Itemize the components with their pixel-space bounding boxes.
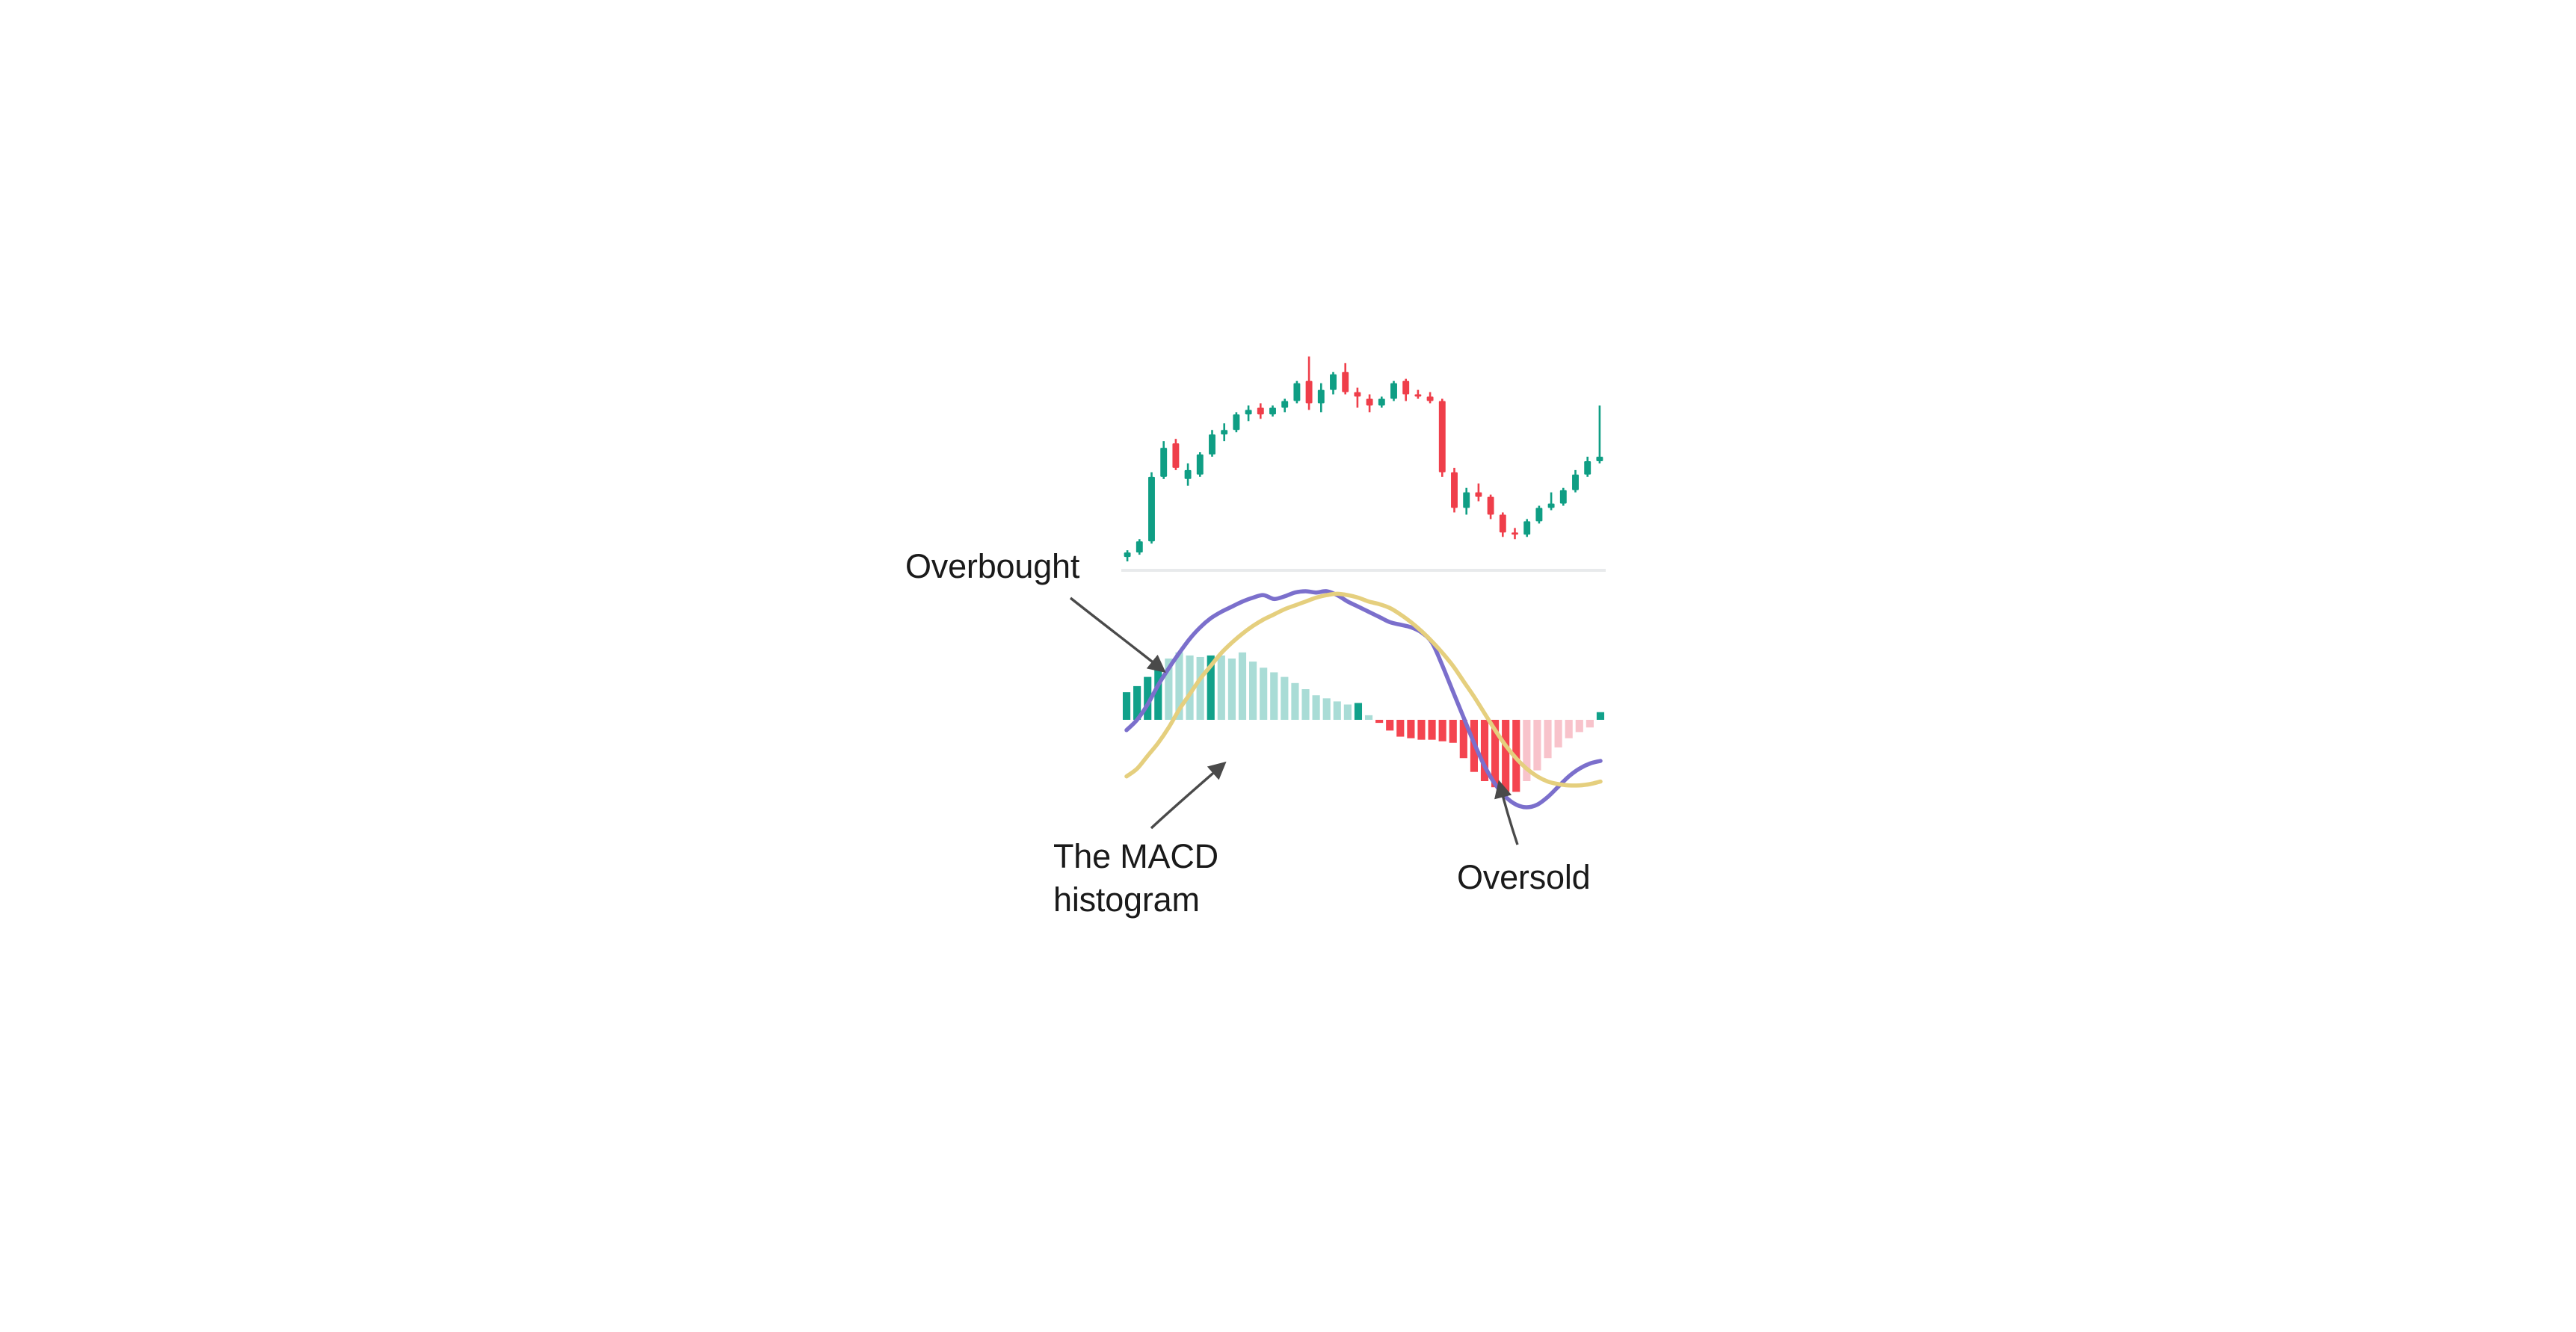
histogram-bar-positive xyxy=(1344,705,1352,721)
oversold-arrow-icon xyxy=(1500,783,1517,845)
candle-body xyxy=(1306,381,1313,404)
histogram-bar-negative xyxy=(1565,720,1573,739)
candle-body xyxy=(1330,374,1337,390)
candle-body xyxy=(1463,493,1470,508)
histogram-bar-positive xyxy=(1281,677,1288,720)
candle-body xyxy=(1584,461,1591,475)
histogram-bar-negative xyxy=(1555,720,1562,747)
histogram-bar-positive xyxy=(1123,692,1130,720)
histogram-bar-positive xyxy=(1355,703,1362,720)
candle-body xyxy=(1342,372,1349,392)
histogram-bar-positive xyxy=(1313,695,1320,720)
candle-body xyxy=(1269,407,1276,414)
candle-body xyxy=(1451,472,1458,508)
histogram-bar-negative xyxy=(1544,720,1551,758)
histogram-bar-negative xyxy=(1407,720,1414,739)
candle-body xyxy=(1354,392,1361,397)
candle-body xyxy=(1160,448,1167,477)
histogram-bar-negative xyxy=(1586,720,1594,727)
histogram-bar-positive xyxy=(1270,672,1278,720)
histogram-bar-negative xyxy=(1396,720,1404,737)
candle-body xyxy=(1318,390,1325,404)
candle-body xyxy=(1596,457,1603,461)
macd-histogram-label-line1: The MACD xyxy=(1053,837,1218,875)
histogram-bar-positive xyxy=(1249,662,1257,720)
candle-body xyxy=(1427,397,1434,401)
histogram-bar-positive xyxy=(1239,653,1246,720)
candle-body xyxy=(1257,407,1264,414)
candle-body xyxy=(1439,401,1446,472)
histogram-bar-positive xyxy=(1260,667,1267,720)
histogram-bar-positive xyxy=(1323,698,1331,720)
histogram-bar-negative xyxy=(1417,720,1425,740)
chart-canvas xyxy=(0,0,2576,1332)
histogram-bar-negative xyxy=(1386,720,1393,730)
histogram-bar-negative xyxy=(1439,720,1446,741)
histogram-bar-positive xyxy=(1365,715,1372,720)
overbought-label: Overbought xyxy=(905,546,1079,588)
candle-body xyxy=(1402,381,1409,395)
candle-body xyxy=(1535,508,1542,522)
candle-body xyxy=(1523,521,1530,534)
histogram-bar-negative xyxy=(1428,720,1435,740)
candle-body xyxy=(1512,532,1518,534)
candle-body xyxy=(1148,477,1155,541)
candle-body xyxy=(1124,552,1131,557)
candle-body xyxy=(1488,497,1494,515)
histogram-bar-positive xyxy=(1597,712,1604,720)
histogram-bar-positive xyxy=(1197,657,1204,720)
oversold-label: Oversold xyxy=(1457,857,1590,898)
candle-body xyxy=(1475,493,1482,497)
candle-body xyxy=(1185,470,1192,479)
candle-body xyxy=(1560,490,1567,504)
histogram-bar-positive xyxy=(1334,701,1341,720)
histogram-bar-negative xyxy=(1375,720,1383,723)
macd-annotated-figure: Overbought The MACDhistogram Oversold xyxy=(0,0,2576,1332)
histogram-bar-positive xyxy=(1228,659,1236,720)
candle-body xyxy=(1390,383,1397,399)
candle-body xyxy=(1293,383,1300,401)
candle-body xyxy=(1378,399,1385,406)
histogram-bar-positive xyxy=(1218,656,1225,720)
candle-body xyxy=(1366,399,1373,406)
candle-body xyxy=(1414,395,1421,397)
macd-histogram-label: The MACDhistogram xyxy=(1053,835,1218,922)
histogram-bar-negative xyxy=(1449,720,1457,743)
histogram-bar-negative xyxy=(1533,720,1541,771)
candle-body xyxy=(1548,504,1555,508)
price-candlestick-panel xyxy=(1124,357,1603,561)
candle-body xyxy=(1136,541,1143,552)
candle-body xyxy=(1572,475,1579,490)
candle-body xyxy=(1197,454,1204,475)
candle-body xyxy=(1172,443,1179,468)
candle-body xyxy=(1245,410,1252,414)
histogram-bar-negative xyxy=(1576,720,1583,732)
candle-body xyxy=(1233,414,1239,430)
candle-body xyxy=(1281,401,1288,408)
macd-histogram-label-line2: histogram xyxy=(1053,881,1200,919)
histogram-bar-negative xyxy=(1502,720,1509,792)
candle-body xyxy=(1500,514,1506,532)
histogram-bar-positive xyxy=(1301,689,1309,720)
histogram-bar-positive xyxy=(1291,683,1298,720)
overbought-arrow-icon xyxy=(1070,598,1163,670)
macd-histogram-arrow-icon xyxy=(1151,764,1224,828)
candle-body xyxy=(1209,434,1215,454)
candle-body xyxy=(1221,430,1227,434)
